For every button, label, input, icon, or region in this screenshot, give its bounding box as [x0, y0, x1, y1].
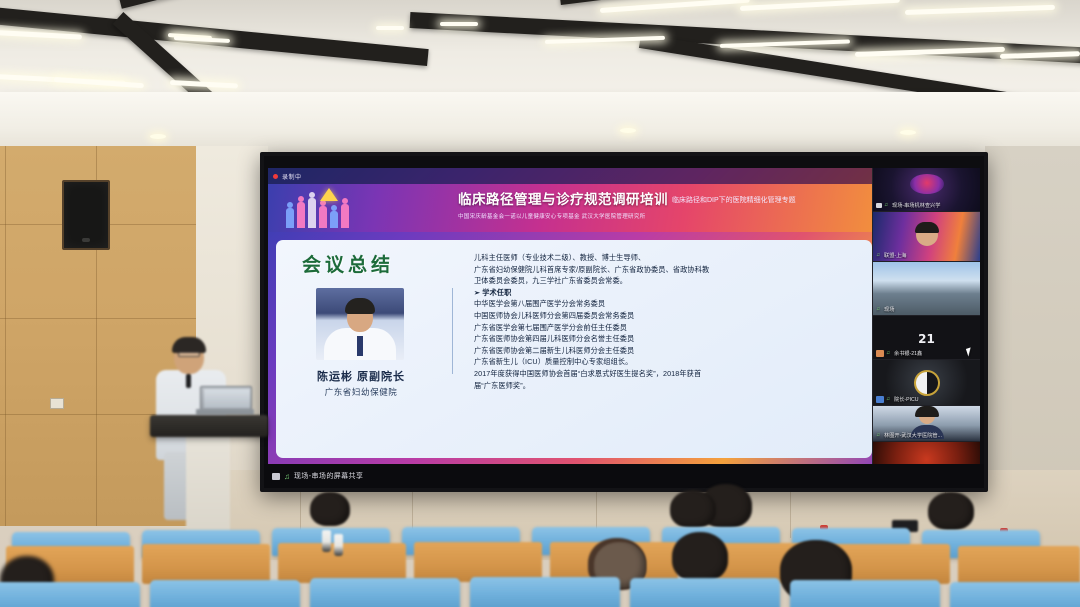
appointment-item: 中华医学会第八届围产医学分会常务委员: [474, 298, 866, 310]
ceiling-beam: [118, 0, 374, 9]
avatar-badge: [876, 350, 884, 357]
seat-back-wood: [142, 544, 270, 584]
speaker-name: 陈运彬 原副院长: [296, 368, 426, 384]
participant-name: 联盟-上海: [884, 252, 906, 259]
audience-seat: [310, 578, 460, 607]
participant-name: 现场: [884, 306, 894, 313]
shared-slide-region: 录制中 临床路径管理与诊疗规范调研培训临床路径和DIP下的医院精细化管理专题 中…: [268, 168, 880, 468]
mic-icon: ♫: [284, 472, 290, 481]
participant-tile[interactable]: ♫ 现场-串场机林查兴学: [873, 168, 980, 212]
audience-seat: [470, 577, 620, 607]
screen-status-bar: ♫ 现场-串场的屏幕共享: [264, 464, 984, 488]
camera-icon: [876, 203, 882, 208]
yinyang-icon: [914, 370, 940, 396]
bio-line: 广东省妇幼保健院儿科首席专家/原副院长、广东省政协委员、省政协科教: [474, 264, 866, 276]
recording-dot-icon: [273, 174, 278, 179]
bio-line: 卫体委员会委员，九三学社广东省委员会常委。: [474, 275, 866, 287]
appointment-item: 广东省医学会第七届围产医学分会前任主任委员: [474, 322, 866, 334]
appointment-item: 届“广东医师奖”。: [474, 380, 866, 392]
participant-tile[interactable]: ♫ 林图开-武汉大学医院管...: [873, 406, 980, 442]
slide-kids-graphic: [286, 186, 396, 228]
mic-icon: ♫: [876, 433, 882, 438]
ceiling-light: [740, 0, 900, 11]
projection-screen: 录制中 临床路径管理与诊疗规范调研培训临床路径和DIP下的医院精细化管理专题 中…: [260, 152, 988, 492]
participant-name: 院长-PICU: [894, 396, 919, 403]
participant-name: 余书银-21鑫: [894, 350, 922, 357]
speaker-affiliation: 广东省妇幼保健院: [296, 386, 426, 398]
participant-label-row: ♫ 余书银-21鑫: [876, 350, 977, 357]
handheld-mic-icon: [186, 374, 191, 388]
downlight: [620, 128, 636, 133]
mic-icon: ♫: [886, 351, 892, 356]
audience-seat: [790, 580, 940, 607]
mic-icon: ♫: [884, 203, 890, 208]
lecture-hall-scene: 录制中 临床路径管理与诊疗规范调研培训临床路径和DIP下的医院精细化管理专题 中…: [0, 0, 1080, 607]
speaker-portrait: [316, 288, 404, 360]
recording-bar: 录制中: [268, 168, 880, 184]
star-icon: [320, 188, 338, 201]
bio-heading: ➢ 学术任职: [474, 287, 866, 299]
slide-title-block: 临床路径管理与诊疗规范调研培训临床路径和DIP下的医院精细化管理专题 中国宋庆龄…: [458, 188, 873, 220]
water-bottle: [322, 530, 331, 552]
appointment-item: 中国医师协会儿科医师分会第四届委员会常务委员: [474, 310, 866, 322]
screen-share-status: 现场-串场的屏幕共享: [294, 471, 363, 481]
camera-icon: [272, 473, 280, 480]
participant-tile[interactable]: ♫ 现场: [873, 262, 980, 316]
appointment-item: 2017年度获得中国医师协会首届“白求恩式好医生提名奖”，2018年获首: [474, 368, 866, 380]
recording-label: 录制中: [282, 172, 302, 181]
wall-outlet: [50, 398, 64, 409]
seat-back-wood: [958, 546, 1080, 586]
slide-section-heading: 会议总结: [302, 250, 394, 277]
glasses-icon: [178, 352, 200, 357]
jersey-number-icon: 21: [918, 332, 935, 346]
participant-tile[interactable]: 21 ♫ 余书银-21鑫: [873, 316, 980, 360]
bio-line: 儿科主任医师（专业技术二级）、教授、博士生导师、: [474, 252, 866, 264]
participant-tile[interactable]: ♫ 联盟-上海: [873, 212, 980, 262]
audience-seat: [150, 580, 300, 607]
mic-icon: ♫: [876, 253, 882, 258]
participant-label-row: ♫ 现场-串场机林查兴学: [876, 202, 977, 209]
participant-sidebar[interactable]: ♫ 现场-串场机林查兴学 ♫ 联盟-上海 ♫: [872, 168, 980, 468]
participant-label-row: ♫ 现场: [876, 306, 977, 313]
participant-tile[interactable]: ♫ 院长-PICU: [873, 360, 980, 406]
slide-body: 会议总结 陈运彬 原副院长 广东省妇幼保健院 儿科主任医师（专业技术二级）、教授…: [276, 240, 872, 458]
screen-surface: 录制中 临床路径管理与诊疗规范调研培训临床路径和DIP下的医院精细化管理专题 中…: [264, 156, 984, 488]
audience-head: [928, 492, 974, 530]
participant-label-row: ♫ 林图开-武汉大学医院管...: [876, 432, 977, 439]
participant-label-row: ♫ 院长-PICU: [876, 396, 977, 403]
appointment-item: 广东省新生儿（ICU）质量控制中心专家组组长。: [474, 356, 866, 368]
avatar-badge: [876, 396, 884, 403]
participant-name: 现场-串场机林查兴学: [892, 202, 940, 209]
water-bottle: [334, 534, 343, 556]
appointment-item: 广东省医师协会第四届儿科医师分会名誉主任委员: [474, 333, 866, 345]
ceiling-light: [905, 5, 1055, 15]
wall-speaker: [62, 180, 110, 250]
audience-seat: [0, 582, 140, 607]
audience-seat: [950, 582, 1080, 607]
ceiling-light: [440, 22, 478, 26]
presenter-laptop: [196, 386, 254, 418]
appointment-item: 广东省医师协会第二届新生儿科医师分会主任委员: [474, 345, 866, 357]
slide-title: 临床路径管理与诊疗规范调研培训: [458, 188, 668, 208]
participant-label-row: ♫ 联盟-上海: [876, 252, 977, 259]
ceiling-light: [376, 26, 404, 30]
slide-divider: [452, 288, 453, 374]
participant-name: 林图开-武汉大学医院管...: [884, 432, 942, 439]
audience-head: [310, 492, 350, 526]
slide-organizations: 中国宋庆龄基金会一诺以儿童健康安心专项基金 武汉大学医院管理研究所: [458, 212, 873, 220]
downlight: [900, 130, 916, 135]
person-avatar-icon: [916, 224, 938, 246]
audience-head: [672, 532, 728, 582]
slide-subtitle: 临床路径和DIP下的医院精细化管理专题: [672, 195, 796, 205]
mic-icon: ♫: [886, 397, 892, 402]
audience-head: [670, 490, 716, 528]
mic-icon: ♫: [876, 307, 882, 312]
audience-seat: [630, 578, 780, 607]
wall-right-panel: [985, 146, 1080, 526]
ceiling-light: [600, 0, 750, 13]
speaker-bio: 儿科主任医师（专业技术二级）、教授、博士生导师、 广东省妇幼保健院儿科首席专家/…: [474, 252, 866, 391]
downlight: [150, 134, 166, 139]
seat-back-wood: [414, 542, 542, 582]
meeting-logo-icon: [910, 174, 944, 194]
